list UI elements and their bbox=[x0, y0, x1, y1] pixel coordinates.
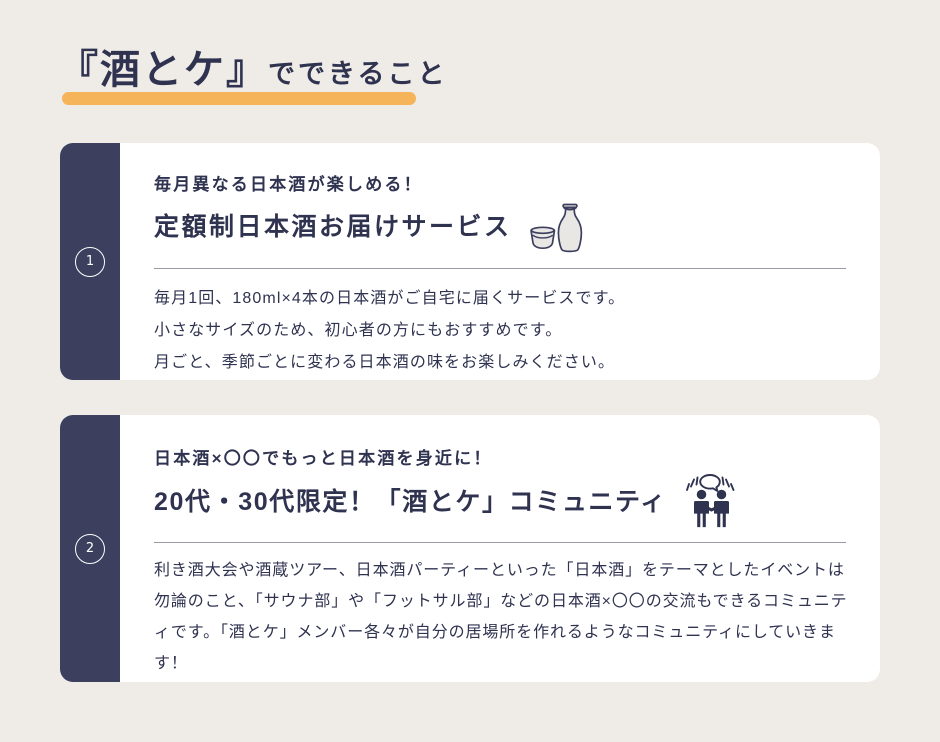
card-1-text-line: 月ごと、季節ごとに変わる日本酒の味をお楽しみください。 bbox=[154, 347, 846, 379]
title-sub: でできること bbox=[268, 59, 447, 89]
sake-bottle-and-cup-icon bbox=[528, 199, 590, 255]
card-2-body: 日本酒×〇〇でもっと日本酒を身近に！ 20代・30代限定！「酒とケ」コミュニティ bbox=[120, 415, 880, 682]
two-people-talking-icon bbox=[681, 473, 751, 529]
feature-card-1[interactable]: 1 毎月異なる日本酒が楽しめる！ 定額制日本酒お届けサービス bbox=[60, 143, 880, 380]
card-1-text-line: 小さなサイズのため、初心者の方にもおすすめです。 bbox=[154, 315, 846, 347]
card-2-headline: 20代・30代限定！「酒とケ」コミュニティ bbox=[154, 484, 667, 520]
page-root: 『酒とケ』でできること 1 毎月異なる日本酒が楽しめる！ 定額制日本酒お届けサー… bbox=[0, 0, 940, 742]
title-text: 『酒とケ』でできること bbox=[58, 48, 447, 90]
card-1-text: 毎月1回、180ml×4本の日本酒がご自宅に届くサービスです。 小さなサイズのた… bbox=[120, 269, 880, 379]
card-1-number-panel: 1 bbox=[60, 143, 120, 380]
card-1-headline: 定額制日本酒お届けサービス bbox=[154, 209, 512, 245]
card-2-text: 利き酒大会や酒蔵ツアー、日本酒パーティーといった「日本酒」をテーマとしたイベント… bbox=[120, 543, 880, 680]
card-1-header: 毎月異なる日本酒が楽しめる！ 定額制日本酒お届けサービス bbox=[120, 143, 880, 255]
title-highlight-bar bbox=[62, 92, 416, 105]
card-1-eyebrow: 毎月異なる日本酒が楽しめる！ bbox=[154, 173, 846, 197]
card-1-number-badge: 1 bbox=[75, 247, 105, 277]
feature-card-2[interactable]: 2 日本酒×〇〇でもっと日本酒を身近に！ 20代・30代限定！「酒とケ」コミュニ… bbox=[60, 415, 880, 682]
card-2-headline-row: 20代・30代限定！「酒とケ」コミュニティ bbox=[154, 473, 846, 531]
card-2-number-badge: 2 bbox=[75, 534, 105, 564]
card-1-text-line: 毎月1回、180ml×4本の日本酒がご自宅に届くサービスです。 bbox=[154, 283, 846, 315]
card-1-body: 毎月異なる日本酒が楽しめる！ 定額制日本酒お届けサービス bbox=[120, 143, 880, 380]
card-2-eyebrow: 日本酒×〇〇でもっと日本酒を身近に！ bbox=[154, 447, 846, 471]
page-title: 『酒とケ』でできること bbox=[58, 48, 447, 110]
title-main: 『酒とケ』 bbox=[58, 48, 268, 92]
card-1-headline-row: 定額制日本酒お届けサービス bbox=[154, 199, 846, 255]
card-2-header: 日本酒×〇〇でもっと日本酒を身近に！ 20代・30代限定！「酒とケ」コミュニティ bbox=[120, 415, 880, 531]
card-2-number-panel: 2 bbox=[60, 415, 120, 682]
card-2-text-line: 利き酒大会や酒蔵ツアー、日本酒パーティーといった「日本酒」をテーマとしたイベント… bbox=[154, 555, 854, 680]
